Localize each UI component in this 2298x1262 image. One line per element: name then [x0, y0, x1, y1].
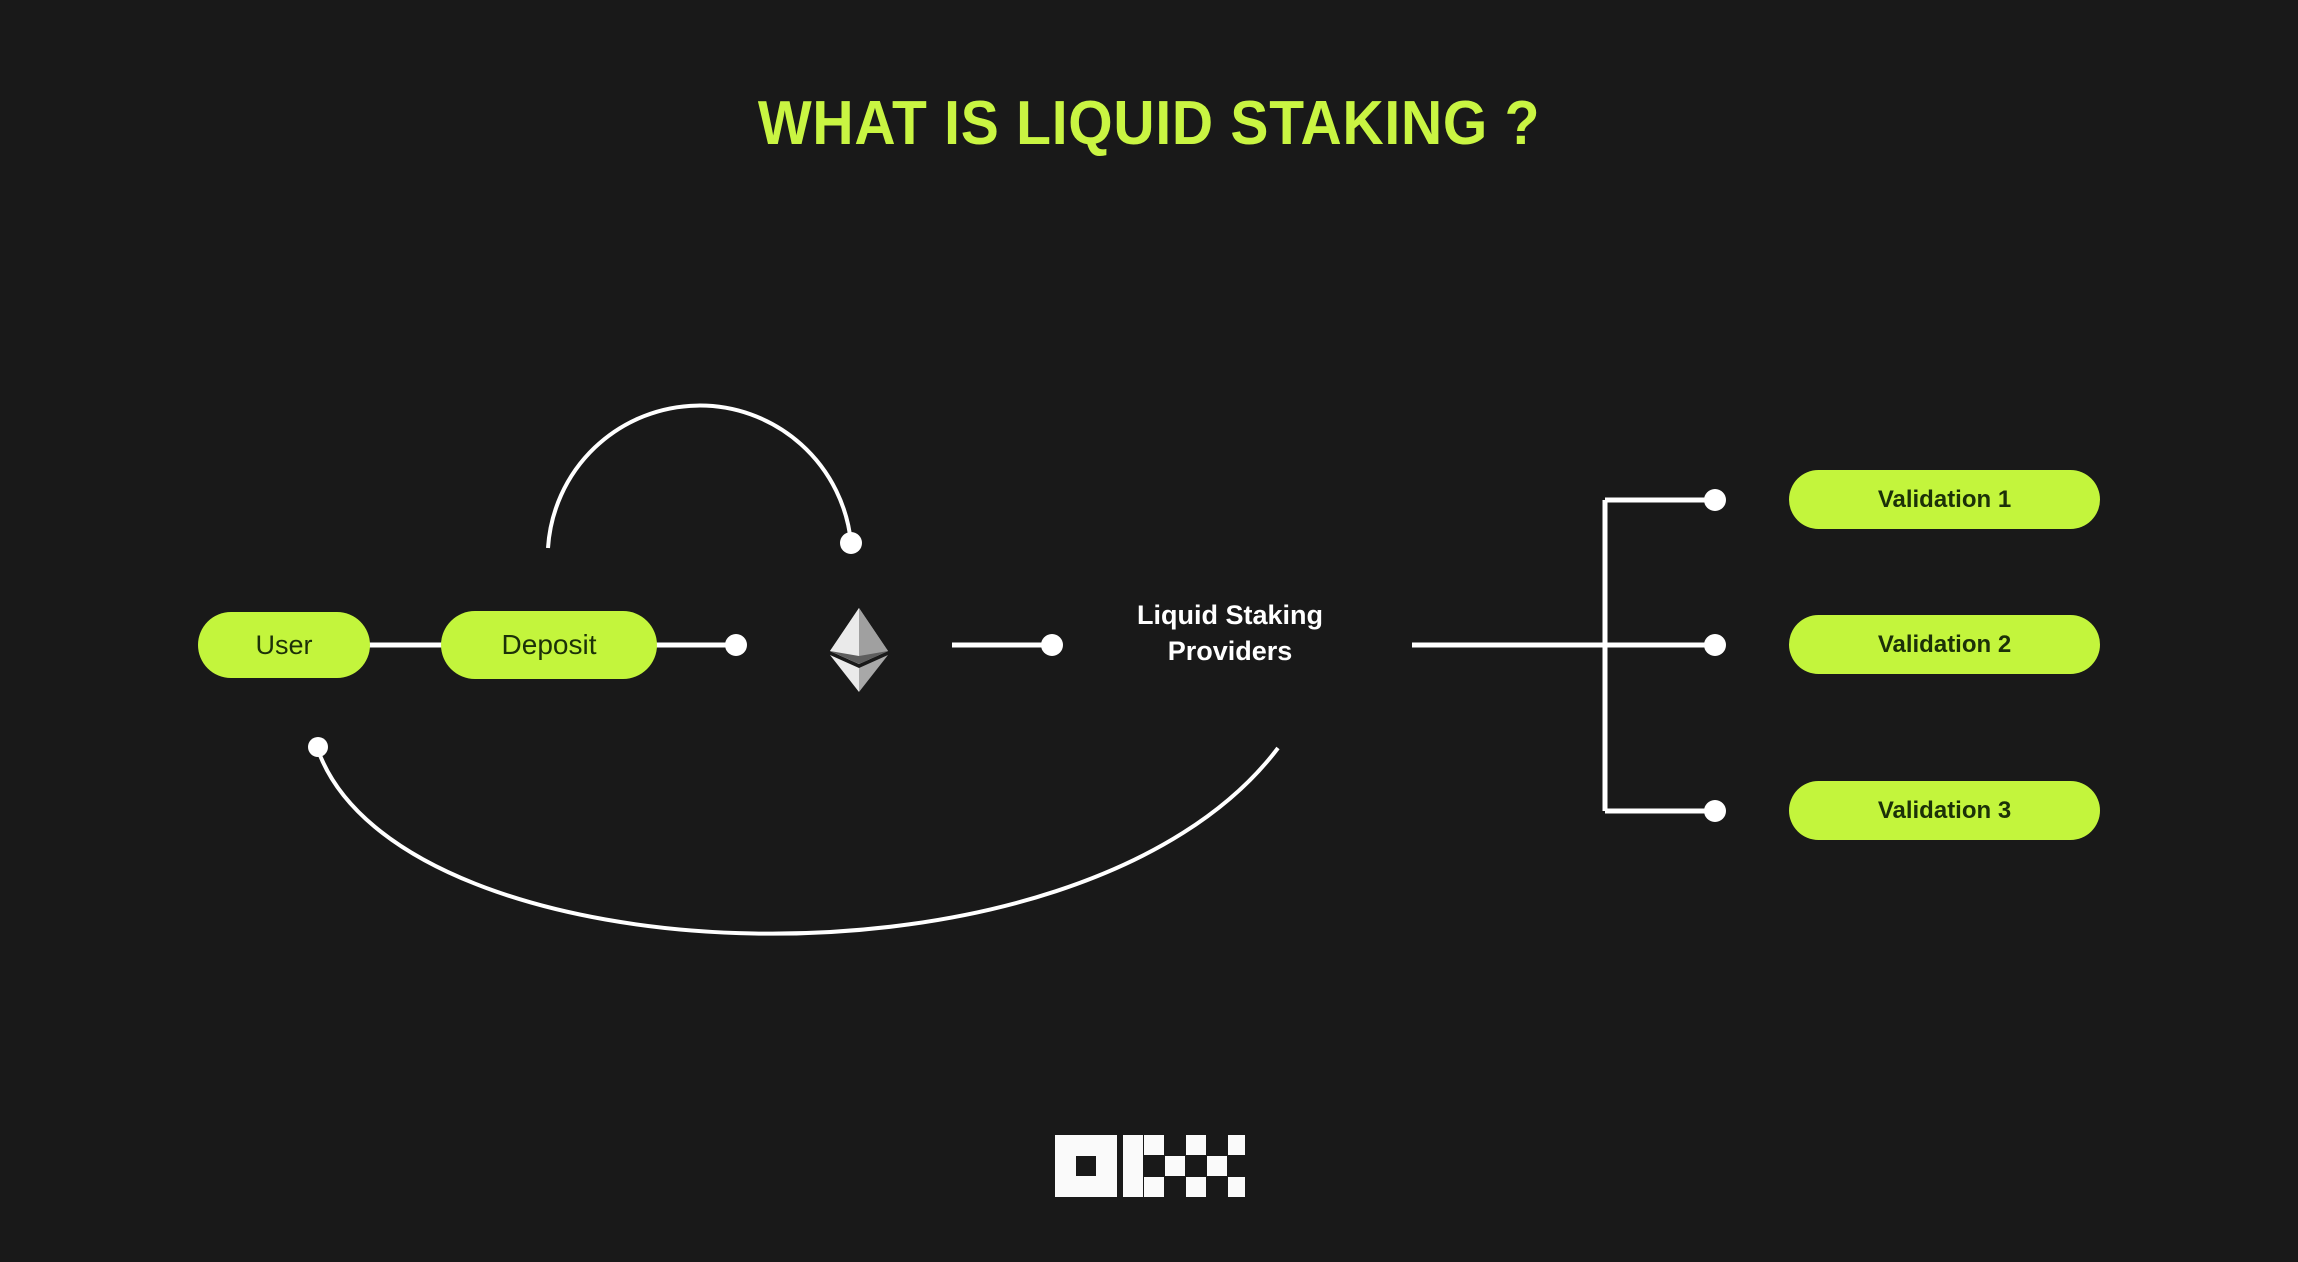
lsp-label-line-2: Providers — [1090, 634, 1370, 670]
edge-arc-upper — [548, 406, 851, 548]
node-validation-3[interactable]: Validation 3 — [1789, 781, 2100, 840]
connector-dot — [1704, 634, 1726, 656]
connector-dot — [1704, 489, 1726, 511]
ethereum-diamond-icon — [828, 606, 890, 694]
okx-logo — [1055, 1135, 1245, 1197]
connector-dot — [308, 737, 328, 757]
node-user[interactable]: User — [198, 612, 370, 678]
node-deposit[interactable]: Deposit — [441, 611, 657, 679]
lsp-label-line-1: Liquid Staking — [1090, 598, 1370, 634]
connector-dot — [1041, 634, 1063, 656]
node-liquid-staking-providers: Liquid Staking Providers — [1090, 598, 1370, 669]
edge-arc-lower — [318, 748, 1278, 934]
page-title: WHAT IS LIQUID STAKING ? — [92, 88, 2206, 159]
node-validation-2[interactable]: Validation 2 — [1789, 615, 2100, 674]
node-validation-1[interactable]: Validation 1 — [1789, 470, 2100, 529]
slide-canvas: WHAT IS LIQUID STAKING ? — [0, 0, 2298, 1262]
connector-dot — [725, 634, 747, 656]
connector-dot — [1704, 800, 1726, 822]
connector-dot — [840, 532, 862, 554]
